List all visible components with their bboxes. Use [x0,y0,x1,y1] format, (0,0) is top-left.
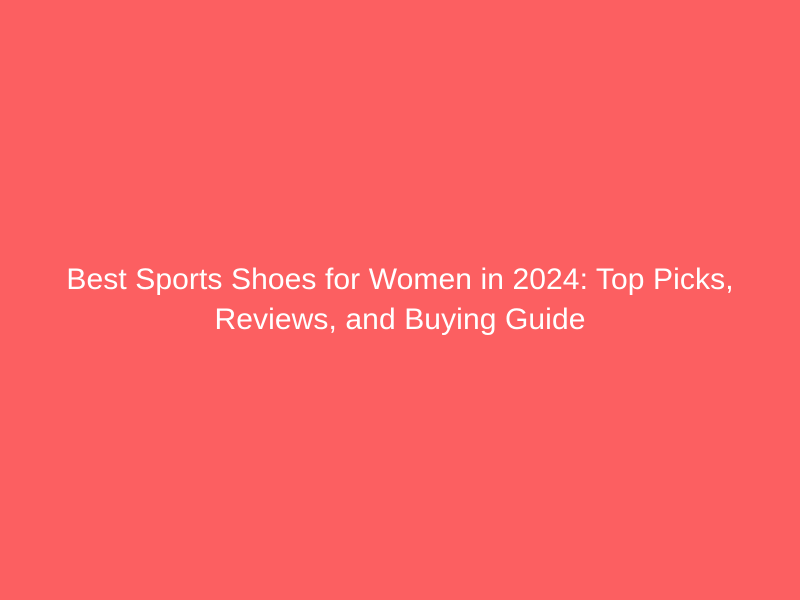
page-title: Best Sports Shoes for Women in 2024: Top… [50,260,750,340]
hero-content: Best Sports Shoes for Women in 2024: Top… [50,260,750,340]
hero-banner: Best Sports Shoes for Women in 2024: Top… [0,0,800,600]
